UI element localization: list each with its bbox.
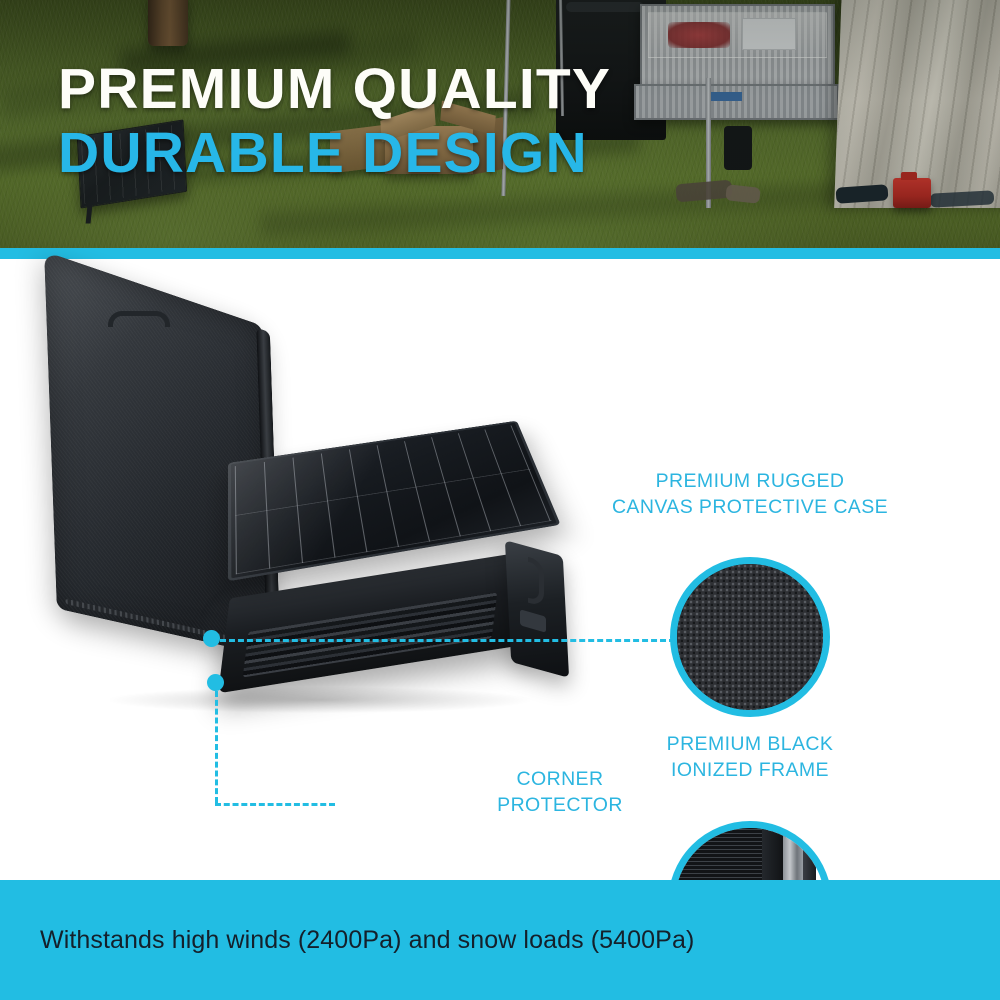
callout-label-line-2: CANVAS PROTECTIVE CASE <box>600 495 900 521</box>
callout-image-canvas-case <box>670 557 830 717</box>
callout-label-line-1: PREMIUM RUGGED <box>600 469 900 495</box>
infographic-page: PREMIUM QUALITY DURABLE DESIGN <box>0 0 1000 1000</box>
bottom-banner: Withstands high winds (2400Pa) and snow … <box>0 880 1000 1000</box>
headline-line-1: PREMIUM QUALITY <box>58 60 758 118</box>
headline-line-2: DURABLE DESIGN <box>58 124 758 182</box>
canvas-weave-texture <box>677 564 823 710</box>
callout-label-line-1: PREMIUM BLACK <box>600 732 900 758</box>
hero-headline: PREMIUM QUALITY DURABLE DESIGN <box>58 60 758 182</box>
callout-label-line-1: CORNER <box>440 767 680 793</box>
features-section: PREMIUM RUGGED CANVAS PROTECTIVE CASE PR… <box>0 259 1000 880</box>
callout-dot-canvas-case <box>203 630 220 647</box>
callout-line-canvas-case <box>220 639 675 642</box>
hero-section: PREMIUM QUALITY DURABLE DESIGN <box>0 0 1000 248</box>
callout-dot-corner-protector <box>207 674 224 691</box>
product-image <box>60 319 540 739</box>
callout-label-corner-protector: CORNER PROTECTOR <box>440 767 680 818</box>
callout-line-corner-protector-horizontal <box>215 803 335 806</box>
banner-text: Withstands high winds (2400Pa) and snow … <box>0 926 694 955</box>
callout-line-corner-protector-vertical <box>215 691 218 803</box>
accent-divider-bar <box>0 248 1000 259</box>
case-base <box>228 463 558 693</box>
callout-label-line-2: PROTECTOR <box>440 793 680 819</box>
case-handle <box>108 311 170 327</box>
callout-label-canvas-case: PREMIUM RUGGED CANVAS PROTECTIVE CASE <box>600 469 900 520</box>
